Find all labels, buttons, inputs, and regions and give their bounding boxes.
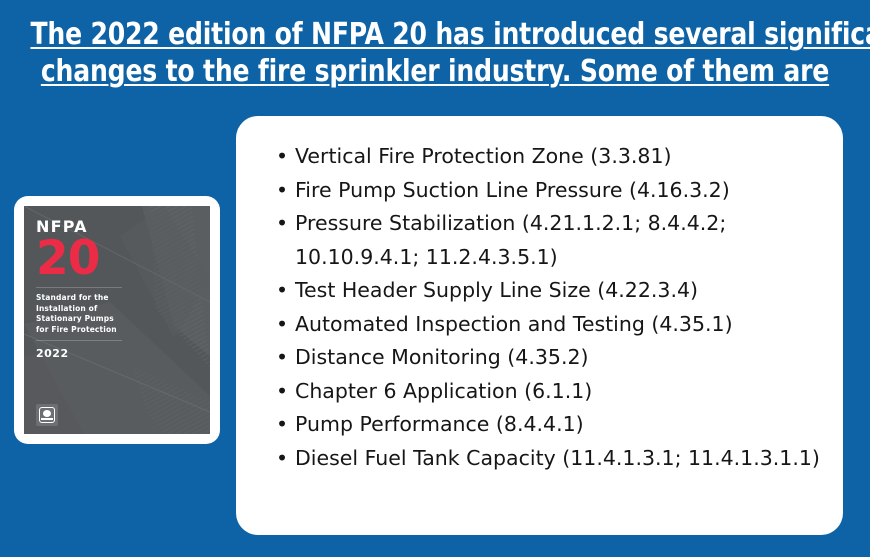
list-item: Chapter 6 Application (6.1.1) — [258, 375, 821, 409]
page-title-line-2: changes to the fire sprinkler industry. … — [30, 53, 839, 90]
list-item: Diesel Fuel Tank Capacity (11.4.1.3.1; 1… — [258, 442, 821, 476]
book-divider-top — [36, 287, 122, 288]
page-title: The 2022 edition of NFPA 20 has introduc… — [0, 16, 870, 90]
changes-bullet-list: Vertical Fire Protection Zone (3.3.81) F… — [236, 116, 843, 475]
book-cover-face: NFPA 20 Standard for the Installation of… — [24, 206, 210, 434]
book-subtitle-line-1: Standard for the — [36, 293, 200, 304]
list-item: Pump Performance (8.4.4.1) — [258, 408, 821, 442]
list-item: Fire Pump Suction Line Pressure (4.16.3.… — [258, 174, 821, 208]
book-subtitle-line-4: for Fire Protection — [36, 325, 200, 336]
list-item: Distance Monitoring (4.35.2) — [258, 341, 821, 375]
book-edition-year: 2022 — [36, 347, 200, 360]
nfpa-logo-dot-icon — [43, 410, 51, 417]
slide-canvas: The 2022 edition of NFPA 20 has introduc… — [0, 0, 870, 557]
nfpa-20-book-cover: NFPA 20 Standard for the Installation of… — [14, 196, 220, 444]
book-divider-bottom — [36, 340, 122, 341]
changes-card: Vertical Fire Protection Zone (3.3.81) F… — [236, 116, 843, 535]
book-subtitle-line-3: Stationary Pumps — [36, 314, 200, 325]
book-cover-text: NFPA 20 Standard for the Installation of… — [36, 218, 200, 426]
book-subtitle-line-2: Installation of — [36, 304, 200, 315]
nfpa-logo-icon — [36, 404, 58, 426]
nfpa-logo-bar-icon — [41, 418, 53, 421]
list-item: Automated Inspection and Testing (4.35.1… — [258, 308, 821, 342]
list-item: Pressure Stabilization (4.21.1.2.1; 8.4.… — [258, 207, 821, 274]
list-item: Vertical Fire Protection Zone (3.3.81) — [258, 140, 821, 174]
page-title-line-1: The 2022 edition of NFPA 20 has introduc… — [30, 16, 839, 53]
list-item: Test Header Supply Line Size (4.22.3.4) — [258, 274, 821, 308]
book-standard-number: 20 — [36, 237, 200, 281]
